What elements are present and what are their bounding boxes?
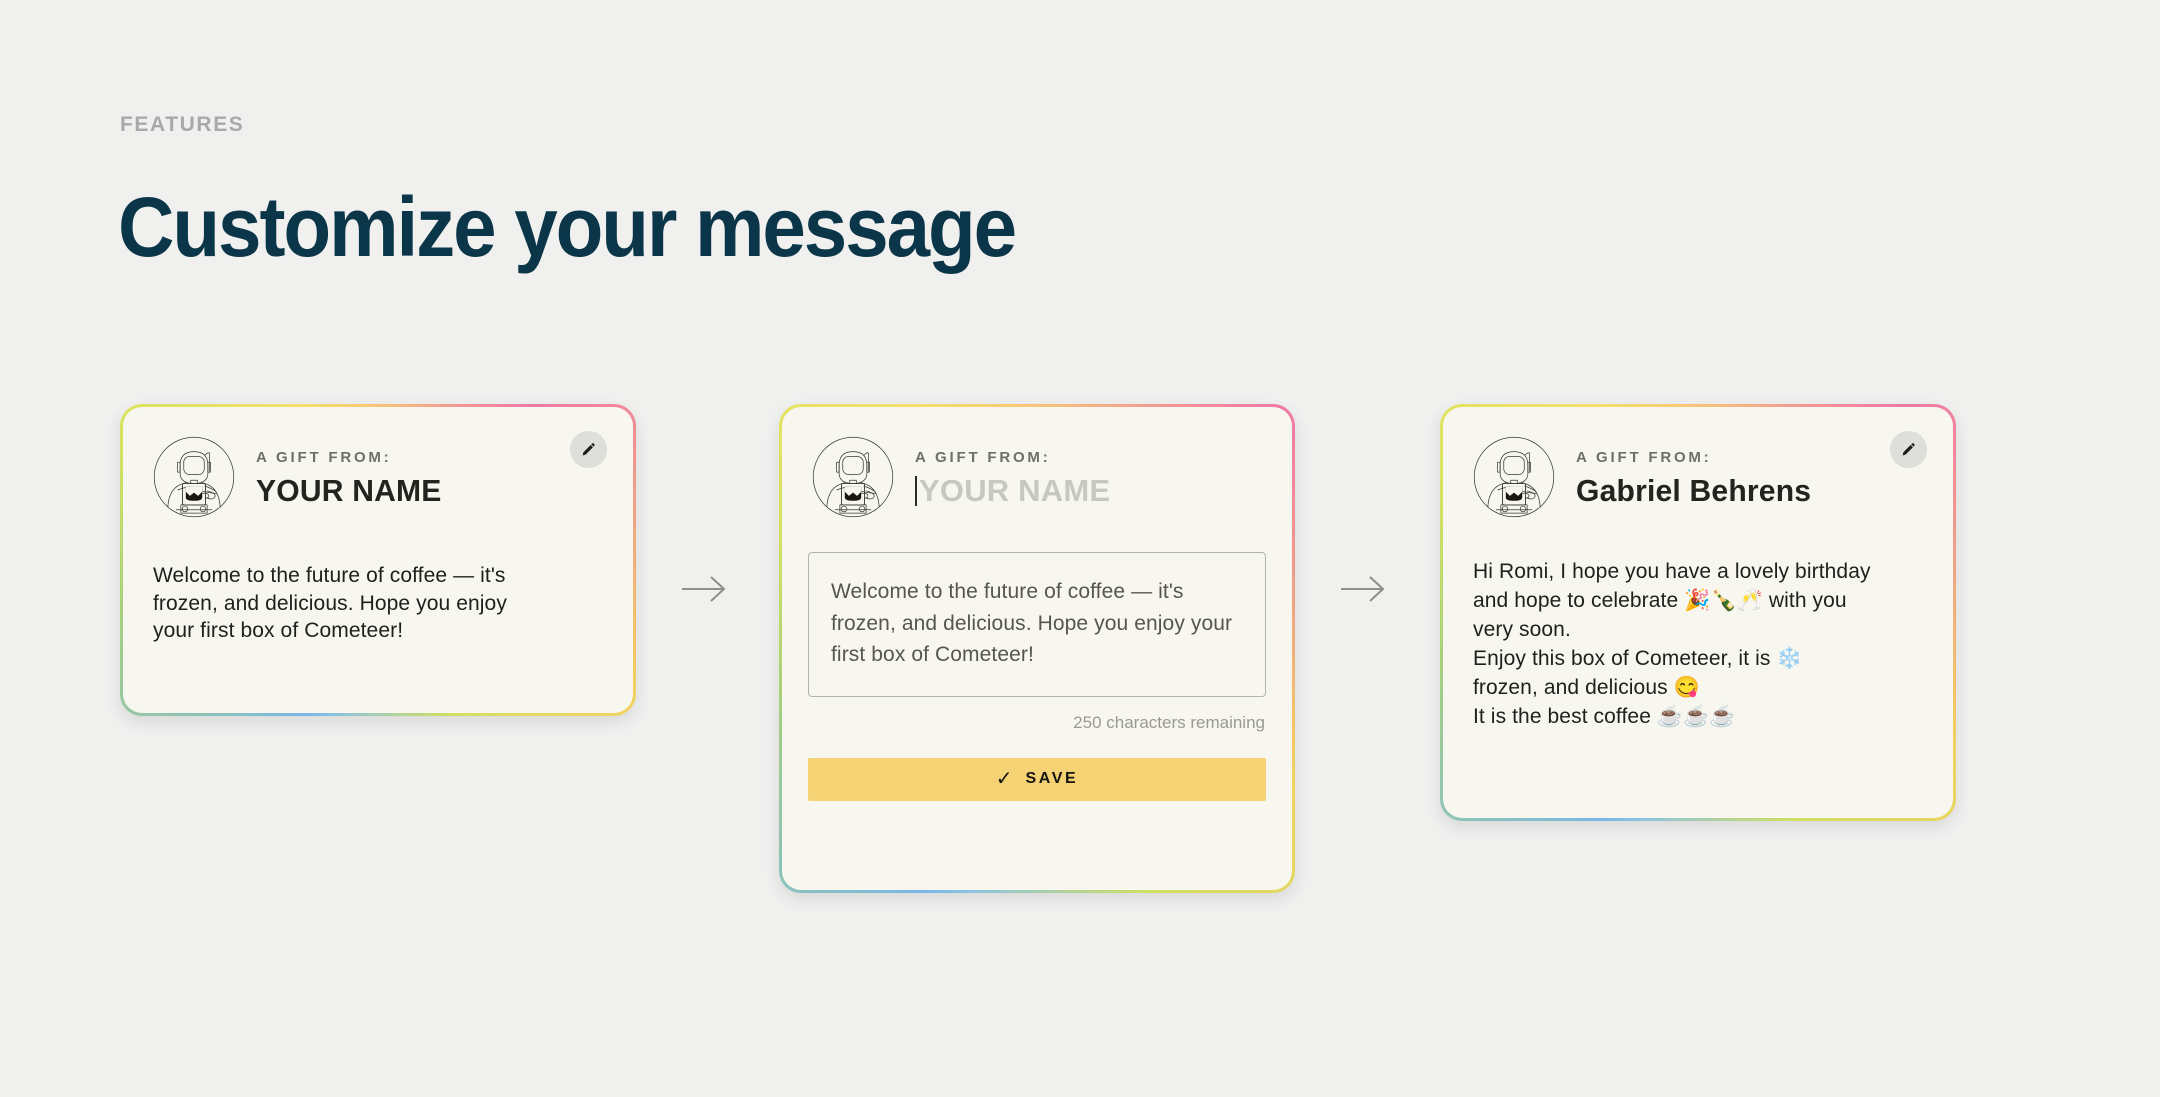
gift-message-card-editing[interactable]: A GIFT FROM: YOUR NAME Welcome to the fu… bbox=[779, 404, 1295, 893]
text-caret bbox=[915, 476, 917, 506]
message-editor: Welcome to the future of coffee — it's f… bbox=[782, 518, 1292, 697]
sender-name: Gabriel Behrens bbox=[1576, 473, 1811, 509]
message-textarea-value: Welcome to the future of coffee — it's f… bbox=[831, 576, 1243, 671]
gift-from-label: A GIFT FROM: bbox=[256, 449, 447, 466]
card-header: A GIFT FROM: YOUR NAME bbox=[123, 407, 633, 518]
astronaut-avatar-icon bbox=[153, 436, 235, 518]
card-inner: A GIFT FROM: Gabriel Behrens Hi Romi, I … bbox=[1443, 407, 1953, 818]
edit-button[interactable] bbox=[1890, 431, 1927, 468]
gift-from-label: A GIFT FROM: bbox=[1576, 449, 1818, 466]
gift-message-card-default[interactable]: A GIFT FROM: YOUR NAME Welcome to the fu… bbox=[120, 404, 636, 716]
astronaut-avatar-icon bbox=[812, 436, 894, 518]
card-inner: A GIFT FROM: YOUR NAME Welcome to the fu… bbox=[123, 407, 633, 713]
gift-message-card-filled[interactable]: A GIFT FROM: Gabriel Behrens Hi Romi, I … bbox=[1440, 404, 1956, 821]
sender-name-placeholder: YOUR NAME bbox=[919, 473, 1110, 508]
character-counter: 250 characters remaining bbox=[782, 697, 1292, 733]
card-header: A GIFT FROM: YOUR NAME bbox=[782, 407, 1292, 518]
pencil-icon bbox=[579, 440, 598, 459]
check-icon: ✓ bbox=[996, 769, 1013, 789]
save-button-label: SAVE bbox=[1025, 770, 1078, 788]
astronaut-avatar-icon bbox=[1473, 436, 1555, 518]
sender-block: A GIFT FROM: YOUR NAME bbox=[915, 446, 1110, 509]
save-button[interactable]: ✓ SAVE bbox=[808, 758, 1266, 801]
card-inner: A GIFT FROM: YOUR NAME Welcome to the fu… bbox=[782, 407, 1292, 890]
sender-name-input[interactable]: YOUR NAME bbox=[915, 473, 1110, 509]
arrow-right-icon bbox=[678, 572, 730, 606]
gift-from-label: A GIFT FROM: bbox=[915, 449, 1110, 466]
sender-name: YOUR NAME bbox=[256, 473, 442, 509]
message-text: Welcome to the future of coffee — it's f… bbox=[123, 518, 633, 645]
edit-button[interactable] bbox=[570, 431, 607, 468]
sender-block: A GIFT FROM: Gabriel Behrens bbox=[1576, 446, 1818, 509]
arrow-right-icon bbox=[1337, 572, 1389, 606]
pencil-icon bbox=[1899, 440, 1918, 459]
cards-container: A GIFT FROM: YOUR NAME Welcome to the fu… bbox=[0, 0, 2160, 1097]
sender-block: A GIFT FROM: YOUR NAME bbox=[256, 446, 447, 509]
card-header: A GIFT FROM: Gabriel Behrens bbox=[1443, 407, 1953, 518]
message-textarea[interactable]: Welcome to the future of coffee — it's f… bbox=[808, 552, 1266, 697]
message-text: Hi Romi, I hope you have a lovely birthd… bbox=[1443, 518, 1953, 732]
